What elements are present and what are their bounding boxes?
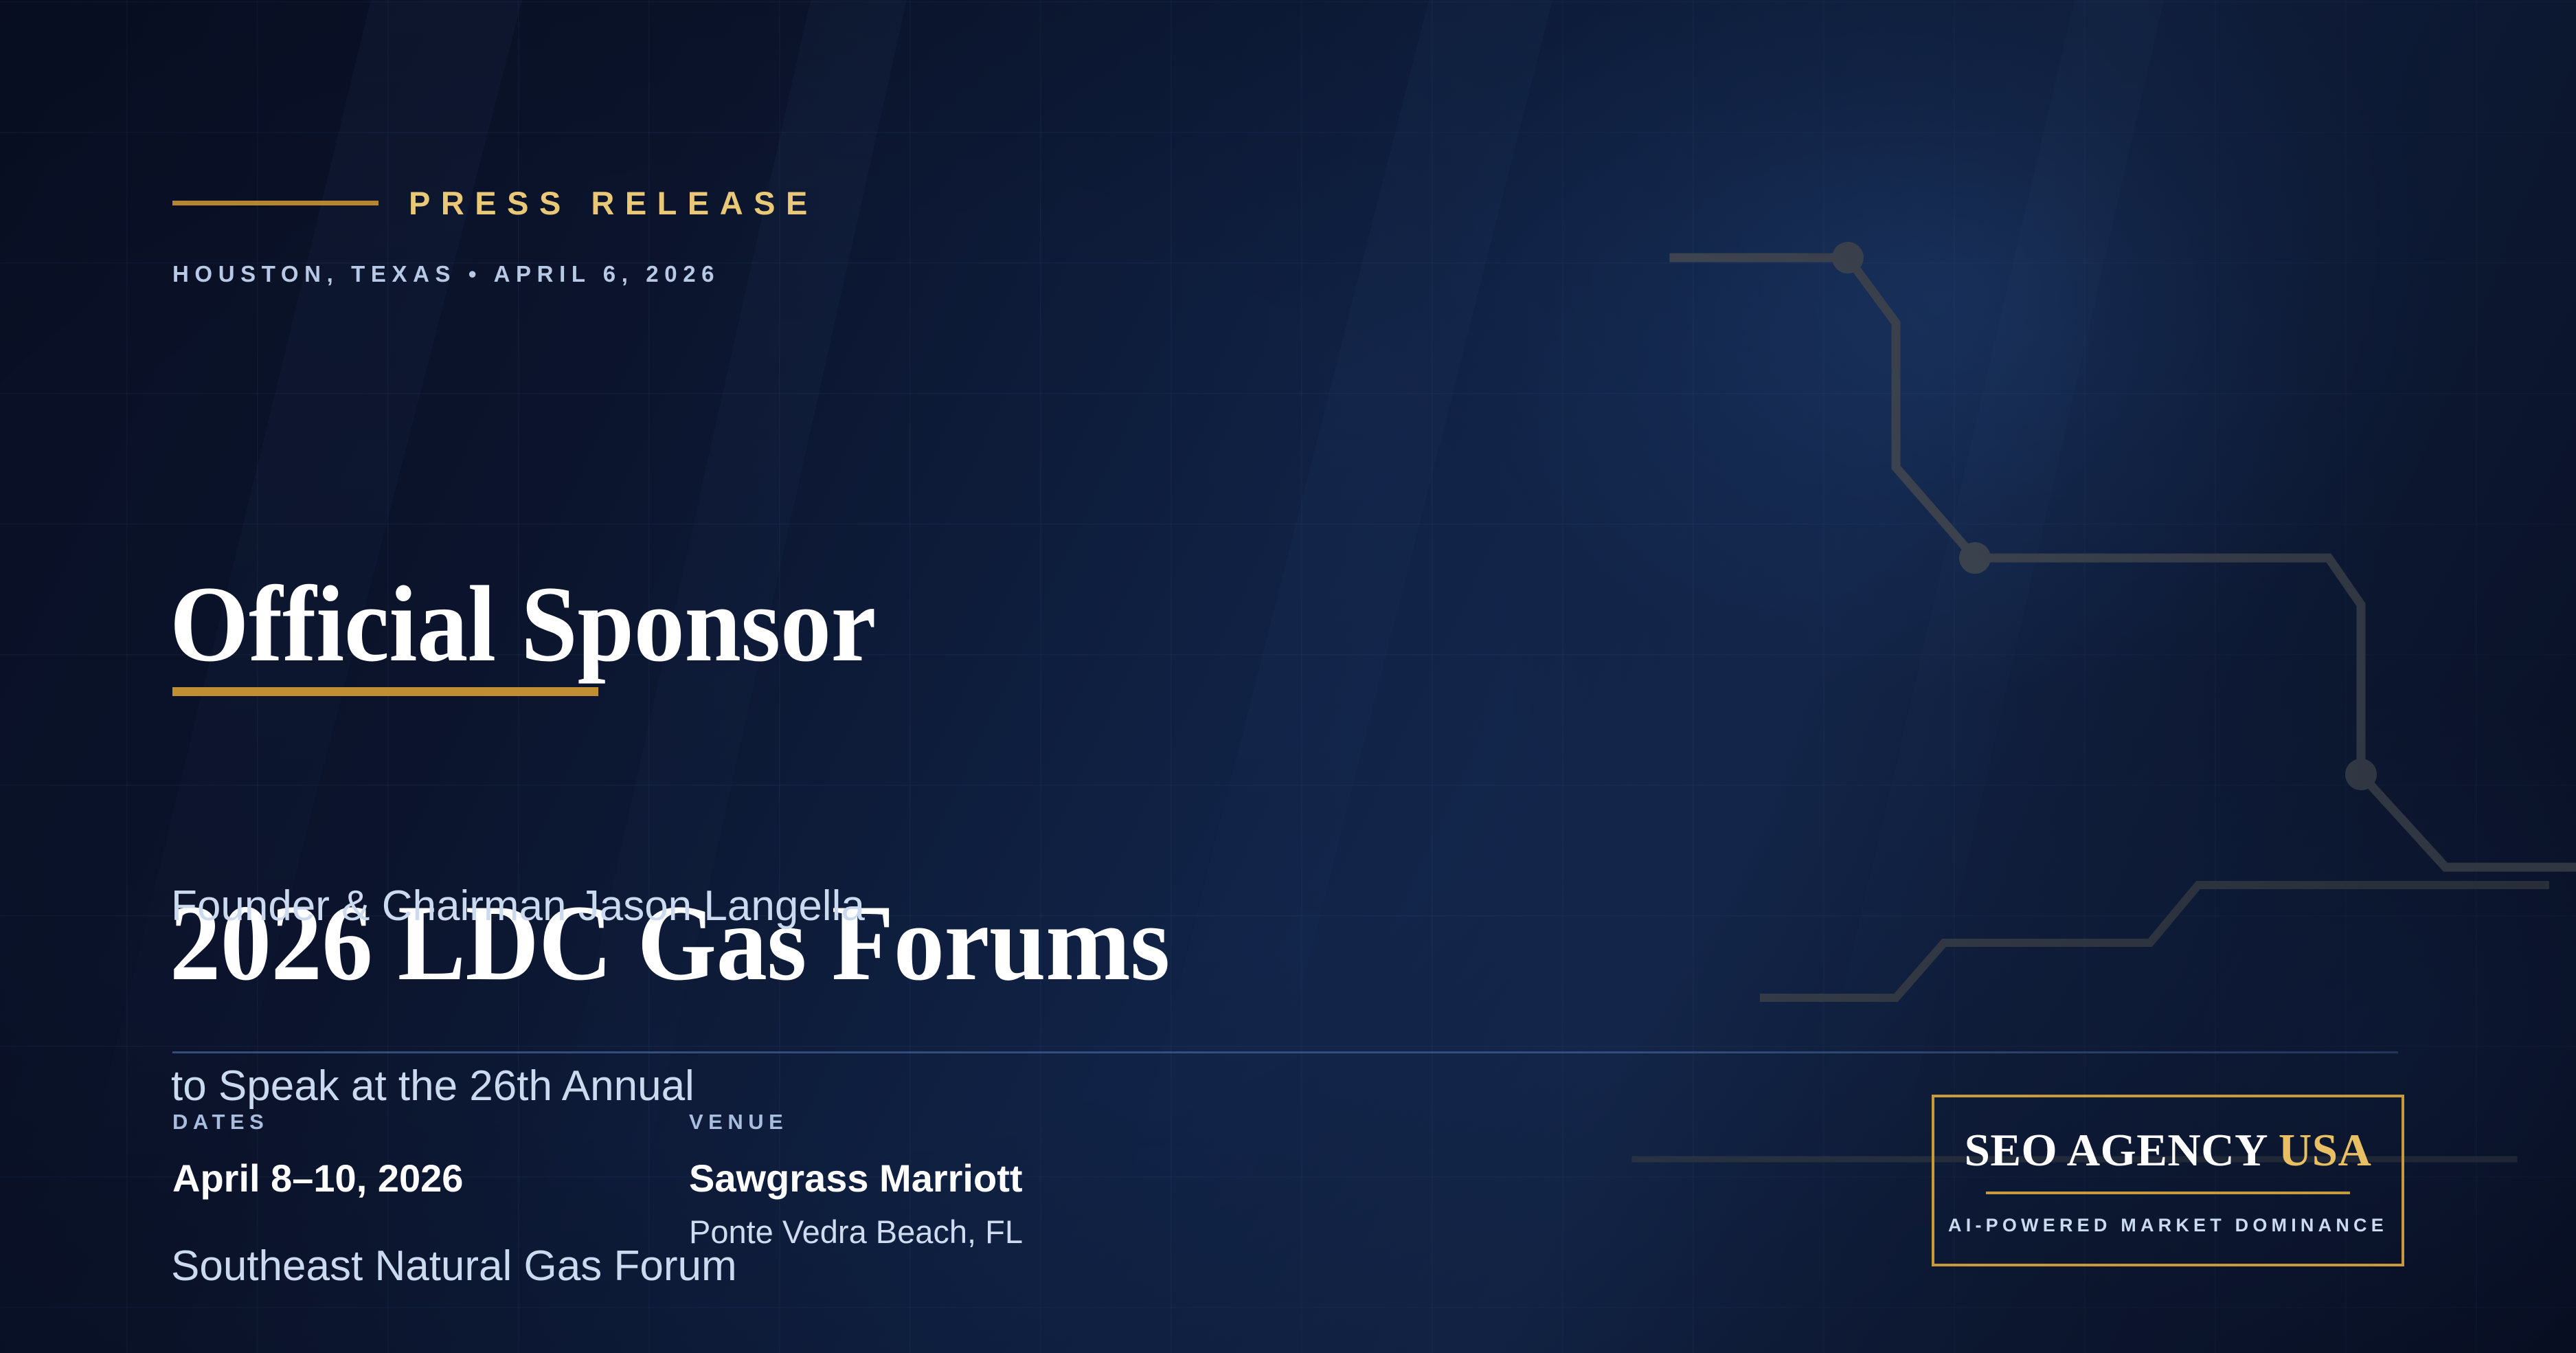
poster-content: PRESS RELEASE HOUSTON, TEXAS • APRIL 6, …	[0, 0, 2576, 1353]
eyebrow-label: PRESS RELEASE	[409, 184, 818, 222]
logo-brand-primary: SEO AGENCY	[1965, 1125, 2279, 1176]
subheadline-line-2: to Speak at the 26th Annual	[171, 1056, 865, 1116]
logo-wordmark: SEO AGENCY USA	[1965, 1128, 2372, 1174]
headline-accent-bar	[172, 687, 598, 696]
brand-logo: SEO AGENCY USA AI-POWERED MARKET DOMINAN…	[1932, 1095, 2404, 1266]
eyebrow-rule	[172, 201, 379, 205]
headline-line-1: Official Sponsor	[170, 572, 1170, 678]
dates-label: DATES	[172, 1110, 689, 1134]
event-details: DATES April 8–10, 2026 VENUE Sawgrass Ma…	[172, 1110, 689, 1251]
poster-canvas: PRESS RELEASE HOUSTON, TEXAS • APRIL 6, …	[0, 0, 2576, 1353]
dates-block: DATES April 8–10, 2026	[172, 1110, 689, 1251]
logo-divider-rule	[1986, 1192, 2350, 1194]
subheadline-line-1: Founder & Chairman Jason Langella	[171, 876, 865, 936]
dates-value: April 8–10, 2026	[172, 1156, 689, 1200]
logo-brand-accent: USA	[2279, 1125, 2372, 1176]
dateline: HOUSTON, TEXAS • APRIL 6, 2026	[172, 261, 720, 287]
footer-divider	[172, 1051, 2398, 1053]
logo-tagline: AI-POWERED MARKET DOMINANCE	[1948, 1215, 2388, 1236]
subheadline: Founder & Chairman Jason Langella to Spe…	[171, 756, 865, 1353]
eyebrow: PRESS RELEASE	[172, 184, 818, 222]
